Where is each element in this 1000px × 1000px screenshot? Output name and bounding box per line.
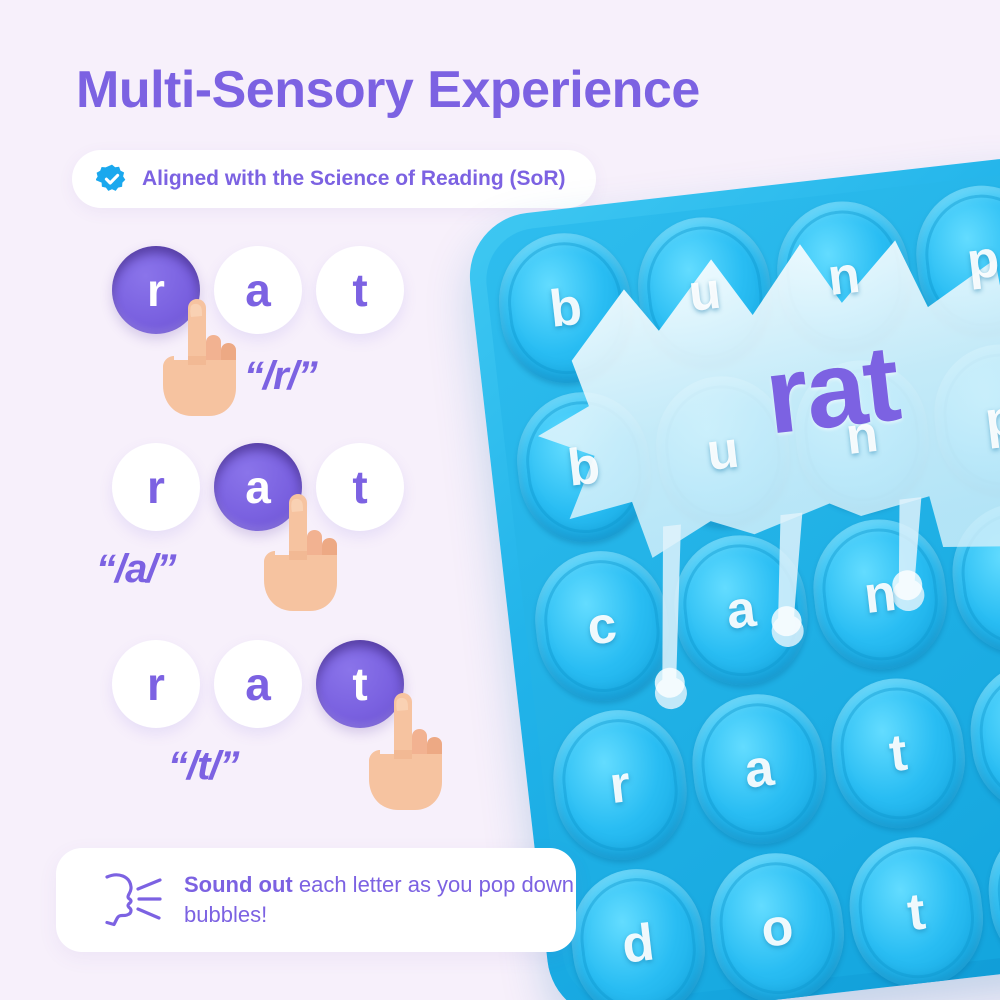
- phoneme-label: “/t/”: [168, 744, 239, 789]
- caption-bold: Sound out: [184, 872, 293, 897]
- phoneme-label: “/a/”: [96, 547, 175, 592]
- bubble-letter: n: [843, 404, 881, 467]
- letter-circle[interactable]: a: [214, 640, 302, 728]
- letter-row-r: r a t “/r/”: [112, 246, 404, 334]
- letter-circle[interactable]: r: [112, 640, 200, 728]
- sound-out-caption-card: Sound out each letter as you pop down bu…: [56, 848, 576, 952]
- bubble-letter: u: [686, 261, 724, 324]
- letter-circle[interactable]: t: [316, 443, 404, 531]
- letter-row-a: r a t “/a/”: [112, 443, 404, 531]
- bubble-letter: t: [886, 723, 910, 785]
- letter-row-t: r a t “/t/”: [112, 640, 404, 728]
- bubble-letter: a: [741, 738, 777, 801]
- bubble-letter: n: [825, 245, 863, 308]
- page-title: Multi-Sensory Experience: [76, 60, 700, 120]
- bubble-letter: b: [565, 436, 603, 499]
- bubble-letter: u: [704, 420, 742, 483]
- letter-circle[interactable]: t: [316, 246, 404, 334]
- letter-circle[interactable]: a: [214, 246, 302, 334]
- bubble[interactable]: o: [703, 846, 851, 1000]
- bubble-letter: p: [964, 229, 1000, 292]
- letter-circles: r a t: [112, 246, 404, 334]
- letter-circle-active[interactable]: a: [214, 443, 302, 531]
- bubble-letter: b: [547, 277, 585, 340]
- letter-circles: r a t: [112, 443, 404, 531]
- bubble-letter: r: [607, 754, 634, 816]
- bubble-letter: n: [861, 563, 899, 626]
- letter-circles: r a t: [112, 640, 404, 728]
- verified-check-icon: [96, 163, 128, 195]
- bubble[interactable]: d: [564, 862, 712, 1000]
- bubble[interactable]: s: [981, 815, 1000, 979]
- bubble[interactable]: x: [860, 989, 1000, 1000]
- caption-text: Sound out each letter as you pop down bu…: [184, 870, 576, 929]
- poster-canvas: Multi-Sensory Experience Aligned with th…: [0, 0, 1000, 1000]
- letter-circle-active[interactable]: r: [112, 246, 200, 334]
- letter-circle-active[interactable]: t: [316, 640, 404, 728]
- bubble[interactable]: t: [842, 830, 990, 994]
- letter-circle[interactable]: r: [112, 443, 200, 531]
- bubble-letter: d: [619, 912, 657, 975]
- bubble-letter: o: [758, 897, 796, 960]
- bubble-letter: t: [904, 882, 928, 944]
- phoneme-label: “/r/”: [244, 354, 317, 399]
- speaking-head-icon: [102, 871, 164, 929]
